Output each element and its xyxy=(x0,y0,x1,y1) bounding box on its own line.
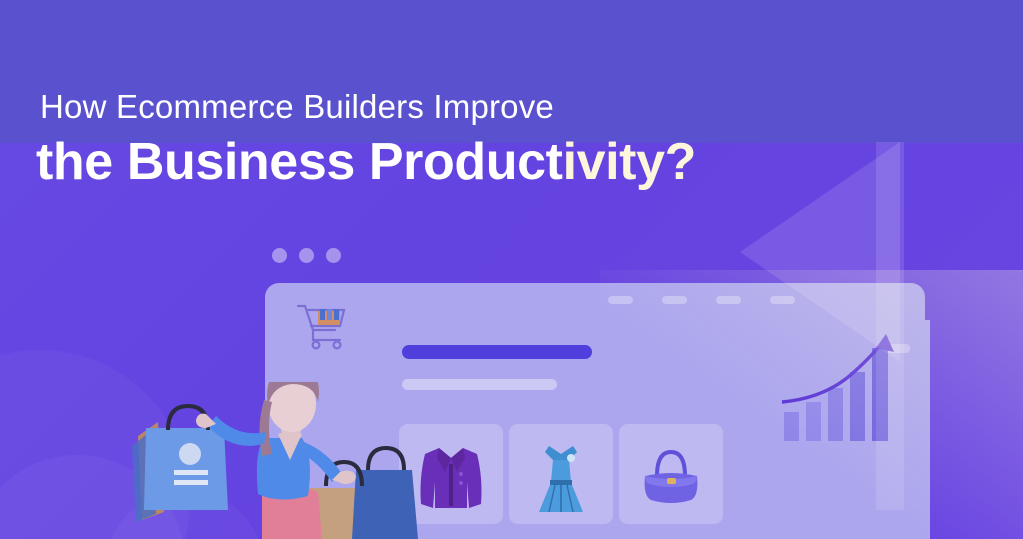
headline-block: How Ecommerce Builders Improve the Busin… xyxy=(40,86,696,194)
handbag-icon xyxy=(619,438,723,518)
nav-pill-1 xyxy=(608,296,633,304)
product-card-handbag[interactable] xyxy=(619,424,723,524)
headline-line-2-plain: the Business Product xyxy=(36,133,563,191)
browser-window-dots xyxy=(272,248,341,263)
search-bar xyxy=(402,345,592,359)
headline-line-1: How Ecommerce Builders Improve xyxy=(40,86,696,128)
woman-shopper-illustration xyxy=(112,382,422,539)
dress-icon xyxy=(509,438,613,518)
product-card-dress[interactable] xyxy=(509,424,613,524)
headline-line-2-tinted: ivity? xyxy=(563,133,696,191)
headline-line-2: the Business Productivity? xyxy=(36,130,696,194)
shopping-bag-left xyxy=(144,428,228,510)
secondary-bar xyxy=(402,379,557,390)
nav-pill-2 xyxy=(662,296,687,304)
shopping-cart-icon xyxy=(296,300,352,352)
nav-pill-3 xyxy=(716,296,741,304)
window-dot-minimize-icon xyxy=(299,248,314,263)
window-dot-maximize-icon xyxy=(326,248,341,263)
window-dot-close-icon xyxy=(272,248,287,263)
hero-banner: How Ecommerce Builders Improve the Busin… xyxy=(0,0,1023,539)
decorative-triangle-stem xyxy=(876,142,904,510)
